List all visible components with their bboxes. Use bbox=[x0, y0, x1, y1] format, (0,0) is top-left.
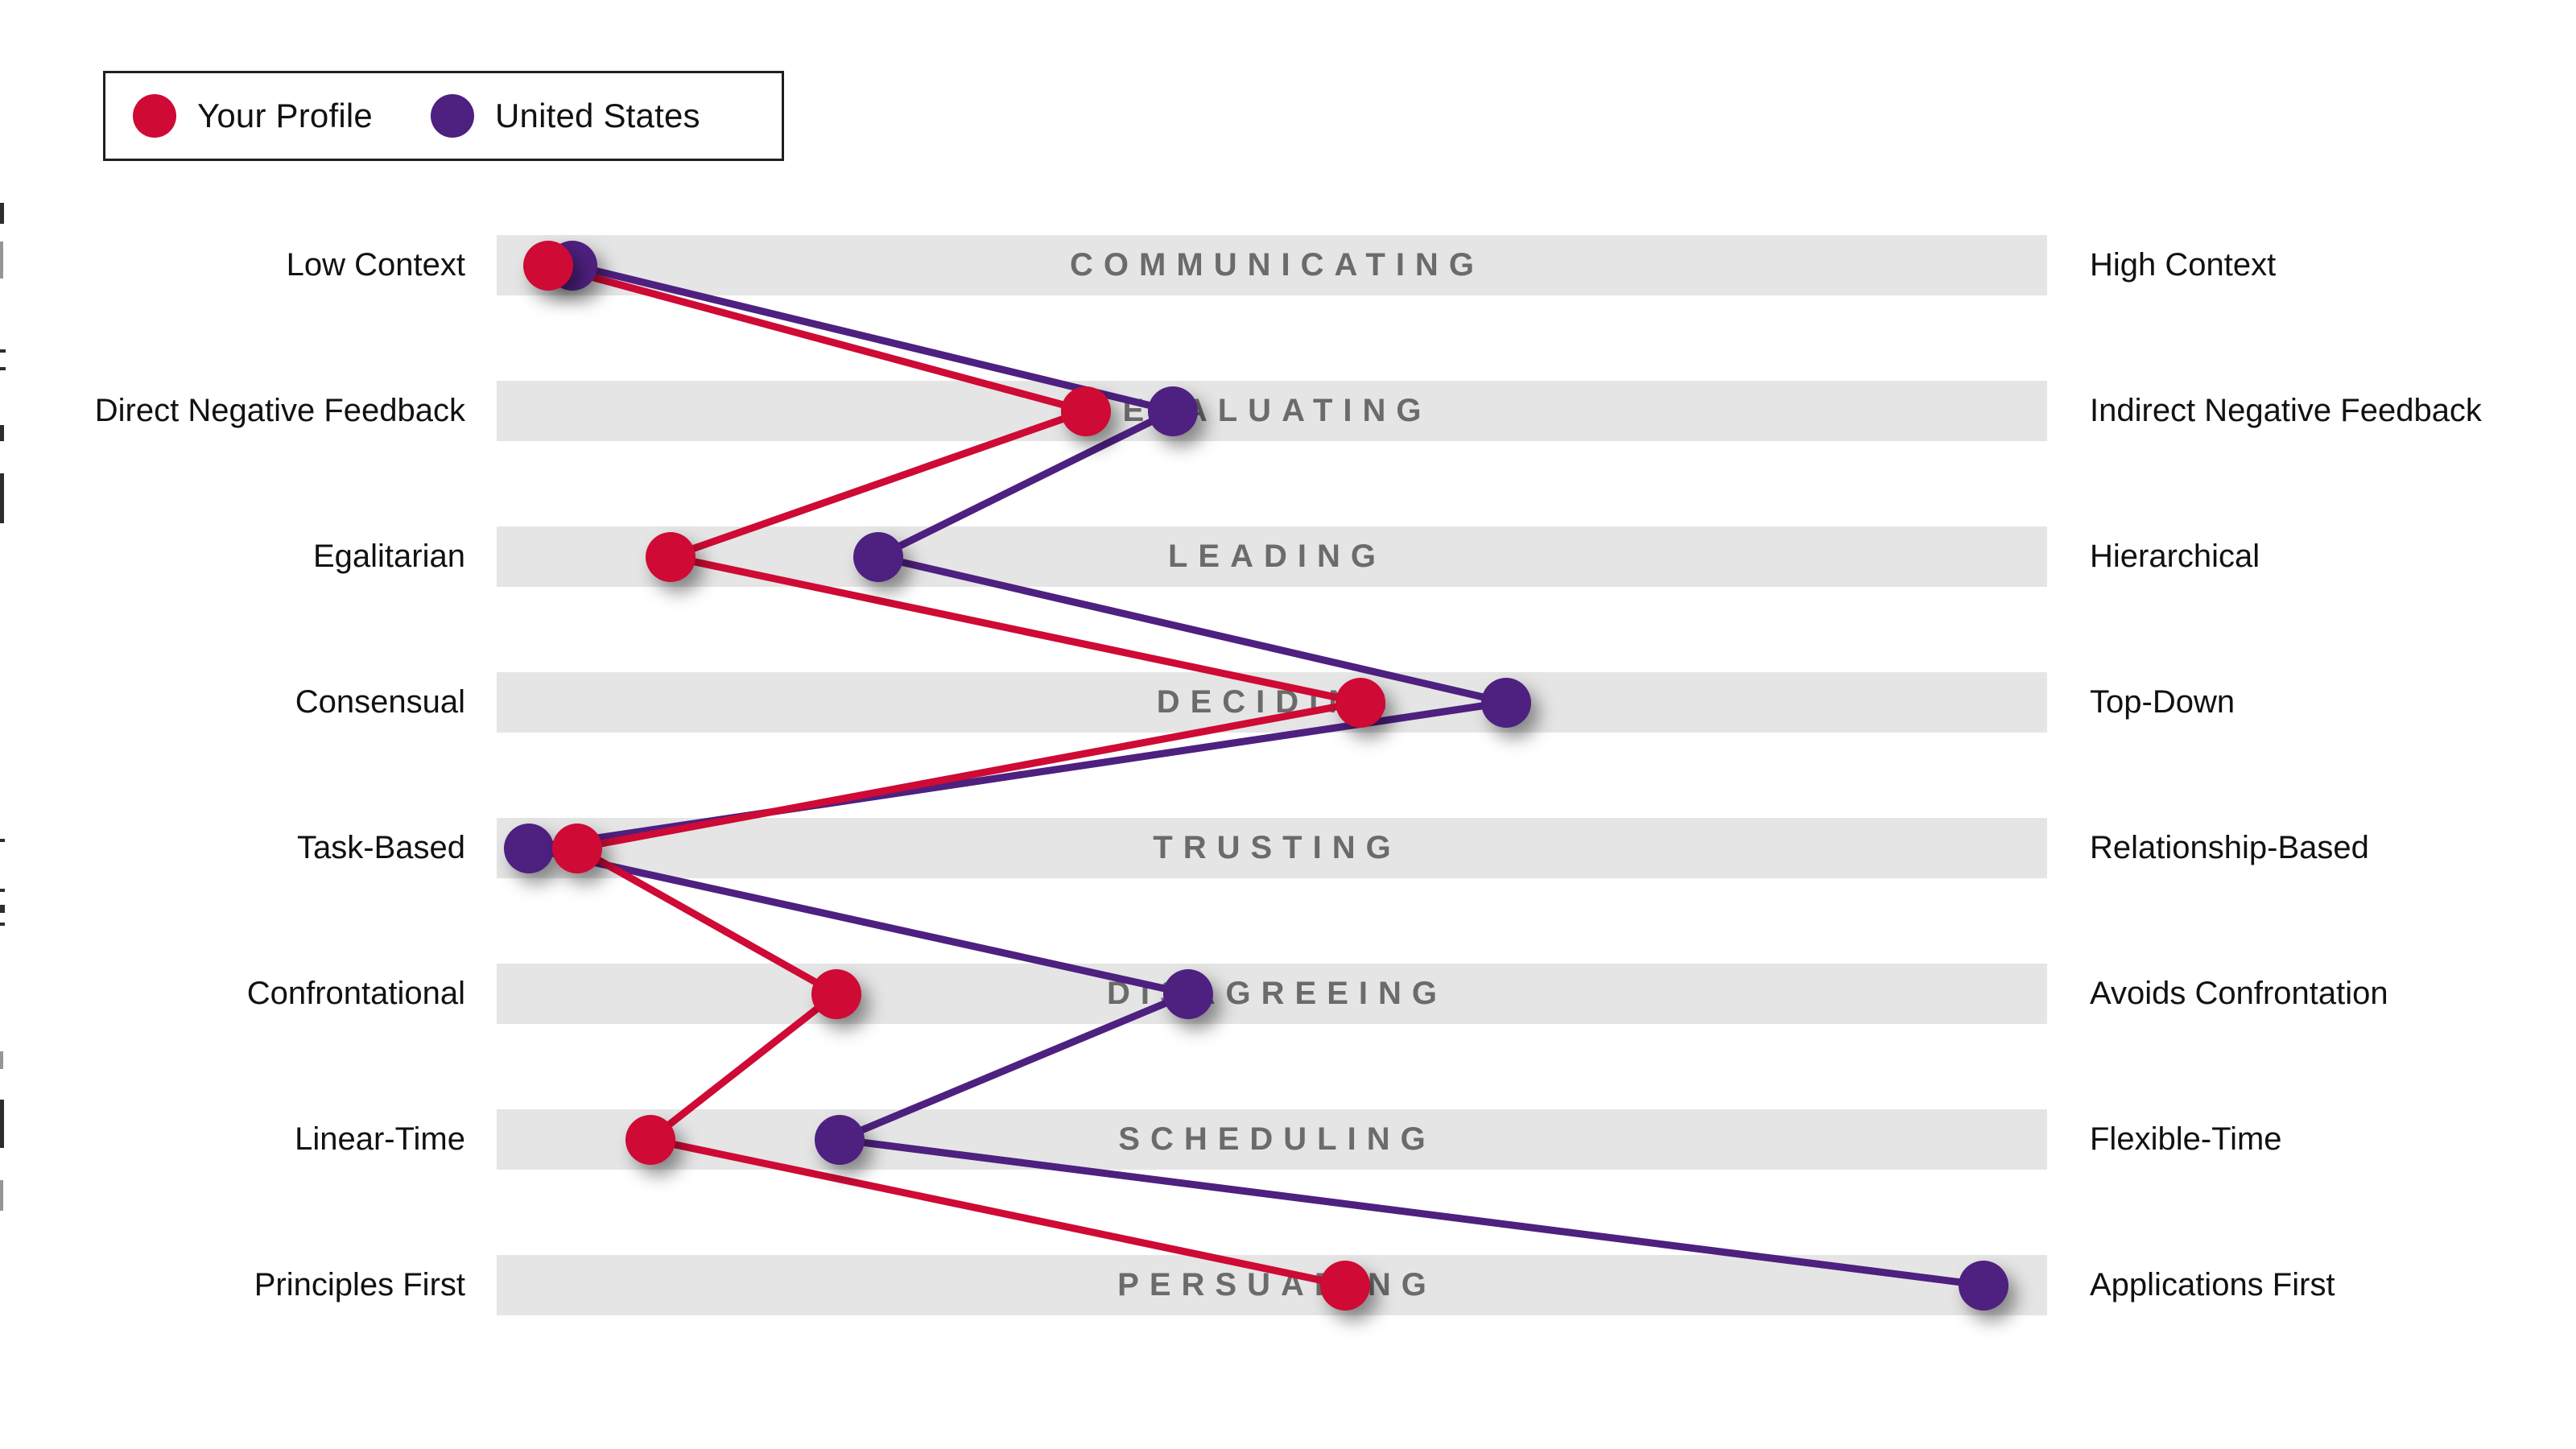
your-profile-marker[interactable] bbox=[523, 241, 573, 291]
legend-item-united-states: United States bbox=[431, 94, 700, 138]
legend-label: Your Profile bbox=[197, 97, 373, 135]
united-states-marker[interactable] bbox=[815, 1115, 865, 1165]
united-states-marker[interactable] bbox=[853, 532, 903, 582]
legend-item-your-profile: Your Profile bbox=[133, 94, 373, 138]
your-profile-marker[interactable] bbox=[552, 824, 602, 873]
legend-dot-icon bbox=[133, 94, 176, 138]
your-profile-marker[interactable] bbox=[625, 1115, 675, 1165]
united-states-marker[interactable] bbox=[1148, 386, 1198, 436]
united-states-marker[interactable] bbox=[504, 824, 554, 873]
united-states-marker[interactable] bbox=[1163, 969, 1213, 1019]
legend-dot-icon bbox=[431, 94, 474, 138]
your-profile-marker[interactable] bbox=[646, 532, 696, 582]
united-states-marker[interactable] bbox=[1959, 1261, 2008, 1311]
culture-map-chart: Your Profile United States COMMUNICATING… bbox=[0, 0, 2576, 1449]
your-profile-marker[interactable] bbox=[1061, 386, 1111, 436]
legend: Your Profile United States bbox=[103, 71, 784, 161]
your-profile-marker[interactable] bbox=[811, 969, 861, 1019]
united-states-marker[interactable] bbox=[1481, 678, 1531, 728]
profile-markers bbox=[0, 0, 2576, 1449]
legend-label: United States bbox=[495, 97, 700, 135]
your-profile-marker[interactable] bbox=[1320, 1261, 1370, 1311]
your-profile-marker[interactable] bbox=[1335, 678, 1385, 728]
